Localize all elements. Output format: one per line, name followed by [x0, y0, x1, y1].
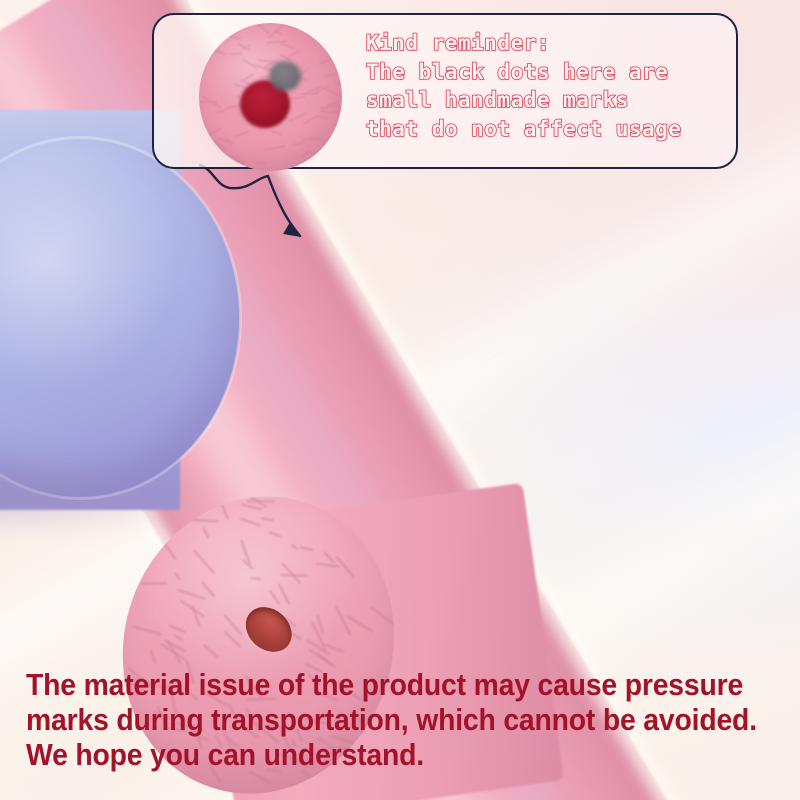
product-annotation-image: Kind reminder: The black dots here are s…	[0, 0, 800, 800]
kind-reminder-callout: Kind reminder: The black dots here are s…	[152, 13, 738, 169]
blue-cylinder-rim	[0, 136, 242, 500]
callout-line-1: Kind reminder:	[366, 29, 726, 58]
zoomed-detail-inset	[199, 23, 342, 171]
bottom-caption: The material issue of the product may ca…	[26, 668, 786, 773]
callout-line-4: that do not affect usage	[366, 115, 726, 144]
callout-line-2: The black dots here are	[366, 58, 726, 87]
caption-line-1: The material issue of the product may ca…	[26, 668, 733, 703]
black-dot-mark-icon	[269, 61, 301, 91]
caption-line-2: marks during transportation, which canno…	[26, 703, 733, 738]
callout-text-block: Kind reminder: The black dots here are s…	[366, 29, 726, 143]
callout-line-3: small handmade marks	[366, 86, 726, 115]
caption-line-3: We hope you can understand.	[26, 738, 733, 773]
